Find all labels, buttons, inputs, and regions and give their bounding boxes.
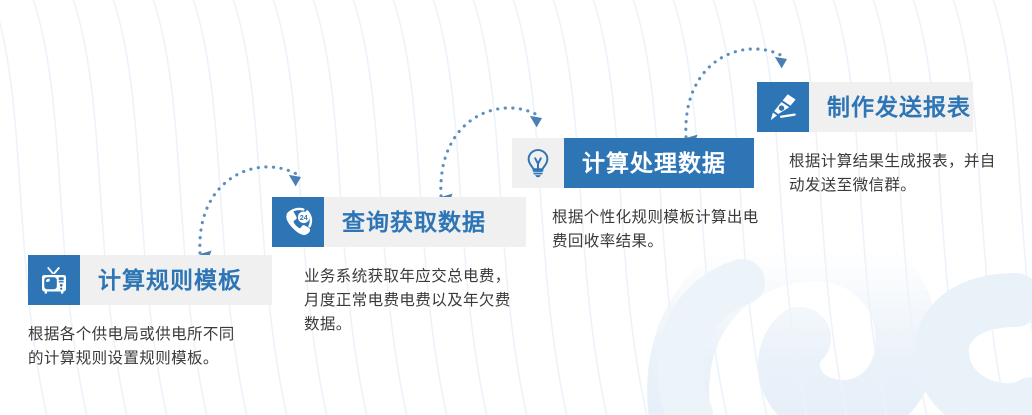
step-body-3: 根据个性化规则模板计算出电费回收率结果。 bbox=[552, 206, 774, 254]
step-title-2: 查询获取数据 bbox=[342, 211, 486, 234]
step-card-4[interactable]: 制作发送报表 根据计算结果生成报表，并自动发送至微信群。 bbox=[757, 82, 999, 198]
step-title-1: 计算规则模板 bbox=[98, 269, 242, 292]
infographic-canvas: 计算规则模板 根据各个供电局或供电所不同的计算规则设置规则模板。 24 查询获取… bbox=[0, 0, 1032, 415]
pen-nib-icon bbox=[757, 82, 809, 132]
step-title-box-2: 查询获取数据 bbox=[324, 197, 526, 247]
step-title-4: 制作发送报表 bbox=[827, 96, 971, 119]
svg-text:24: 24 bbox=[299, 213, 307, 221]
step-card-3[interactable]: 计算处理数据 根据个性化规则模板计算出电费回收率结果。 bbox=[512, 138, 774, 254]
lightbulb-icon bbox=[512, 138, 564, 188]
step-body-2: 业务系统获取年应交总电费，月度正常电费电费以及年欠费数据。 bbox=[304, 265, 516, 337]
step-header-2: 24 查询获取数据 bbox=[272, 197, 526, 247]
step-body-4: 根据计算结果生成报表，并自动发送至微信群。 bbox=[789, 150, 999, 198]
step-title-box-1: 计算规则模板 bbox=[80, 255, 272, 305]
step-title-box-4: 制作发送报表 bbox=[809, 82, 973, 132]
step-header-3: 计算处理数据 bbox=[512, 138, 774, 188]
step-body-1: 根据各个供电局或供电所不同的计算规则设置规则模板。 bbox=[28, 323, 246, 371]
retro-tv-icon bbox=[28, 255, 80, 305]
step-header-4: 制作发送报表 bbox=[757, 82, 999, 132]
step-header-1: 计算规则模板 bbox=[28, 255, 272, 305]
step-card-1[interactable]: 计算规则模板 根据各个供电局或供电所不同的计算规则设置规则模板。 bbox=[28, 255, 272, 371]
phone-24h-icon: 24 bbox=[272, 197, 324, 247]
step-card-2[interactable]: 24 查询获取数据 业务系统获取年应交总电费，月度正常电费电费以及年欠费数据。 bbox=[272, 197, 526, 337]
step-title-box-3: 计算处理数据 bbox=[564, 138, 754, 188]
step-title-3: 计算处理数据 bbox=[582, 152, 726, 175]
